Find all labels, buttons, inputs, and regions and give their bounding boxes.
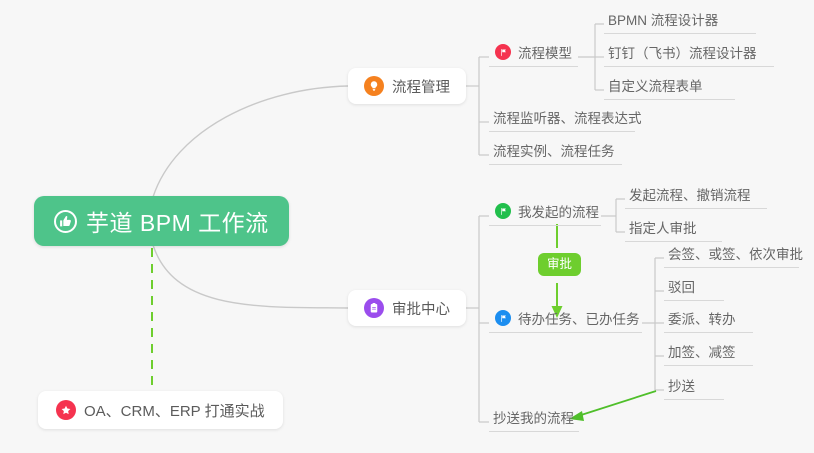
leaf-cc[interactable]: 抄送 [664,375,724,400]
leaf-start-cancel-process-label: 发起流程、撤销流程 [629,184,751,204]
leaf-dingtalk-designer-label: 钉钉（飞书）流程设计器 [608,42,757,62]
leaf-process-listener[interactable]: 流程监听器、流程表达式 [489,107,635,132]
node-todo-done-tasks[interactable]: 待办任务、已办任务 [489,308,642,333]
branch-label-approval-center: 审批中心 [392,298,450,319]
node-my-started-process-label: 我发起的流程 [518,201,599,221]
floating-note-oa-crm-erp[interactable]: OA、CRM、ERP 打通实战 [38,391,283,429]
node-process-model[interactable]: 流程模型 [489,42,578,67]
leaf-dingtalk-designer[interactable]: 钉钉（飞书）流程设计器 [604,42,774,67]
flag-blue-icon [495,310,511,326]
leaf-bpmn-designer[interactable]: BPMN 流程设计器 [604,9,756,34]
leaf-bpmn-designer-label: BPMN 流程设计器 [608,9,718,29]
leaf-cc-my-process-label: 抄送我的流程 [493,407,574,427]
clipboard-icon [364,298,384,318]
flag-red-icon [495,44,511,60]
node-todo-done-tasks-label: 待办任务、已办任务 [518,308,640,328]
node-my-started-process[interactable]: 我发起的流程 [489,201,601,226]
star-icon [56,400,76,420]
leaf-cc-my-process[interactable]: 抄送我的流程 [489,407,579,432]
branch-node-process-management[interactable]: 流程管理 [348,68,466,104]
mindmap-canvas: 芋道 BPM 工作流 OA、CRM、ERP 打通实战 流程管理 流程模型 [0,0,814,453]
leaf-process-instance-label: 流程实例、流程任务 [493,140,615,160]
leaf-assigned-approval[interactable]: 指定人审批 [625,217,722,242]
leaf-countersign[interactable]: 会签、或签、依次审批 [664,243,799,268]
branch-label-process-management: 流程管理 [392,76,450,97]
leaf-process-instance[interactable]: 流程实例、流程任务 [489,140,622,165]
floating-note-label: OA、CRM、ERP 打通实战 [84,400,265,421]
leaf-add-remove-sign[interactable]: 加签、减签 [664,341,753,366]
leaf-cc-label: 抄送 [668,375,695,395]
approval-arrow-tag: 审批 [538,253,581,276]
thumbs-up-icon [54,210,77,233]
leaf-reject[interactable]: 驳回 [664,276,724,301]
leaf-start-cancel-process[interactable]: 发起流程、撤销流程 [625,184,767,209]
leaf-delegate-transfer[interactable]: 委派、转办 [664,308,753,333]
leaf-reject-label: 驳回 [668,276,695,296]
leaf-custom-form-label: 自定义流程表单 [608,75,703,95]
root-node[interactable]: 芋道 BPM 工作流 [34,196,289,246]
leaf-process-listener-label: 流程监听器、流程表达式 [493,107,642,127]
leaf-assigned-approval-label: 指定人审批 [629,217,697,237]
leaf-custom-form[interactable]: 自定义流程表单 [604,75,735,100]
leaf-delegate-transfer-label: 委派、转办 [668,308,736,328]
leaf-countersign-label: 会签、或签、依次审批 [668,243,803,263]
branch-node-approval-center[interactable]: 审批中心 [348,290,466,326]
root-label: 芋道 BPM 工作流 [86,204,269,238]
node-process-model-label: 流程模型 [518,42,572,62]
lightbulb-icon [364,76,384,96]
flag-green-icon [495,203,511,219]
leaf-add-remove-sign-label: 加签、减签 [668,341,736,361]
